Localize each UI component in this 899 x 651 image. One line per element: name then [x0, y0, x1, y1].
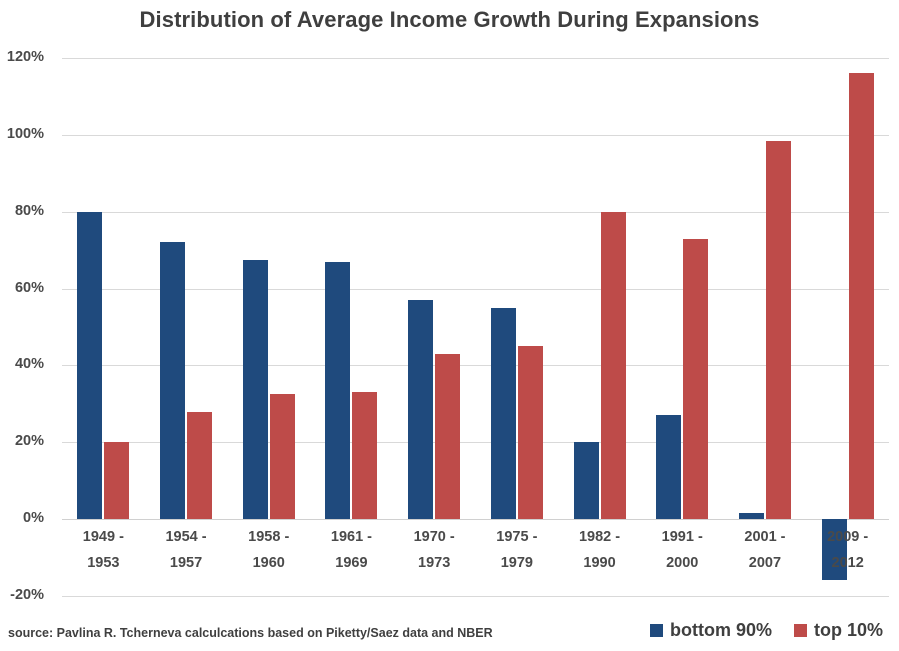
legend-label: bottom 90% [670, 620, 772, 641]
bar-bottom90 [408, 300, 433, 519]
x-axis-tick-label: 1970 -1973 [393, 524, 476, 576]
bar-group [310, 58, 393, 596]
x-axis-tick-label: 2009 -2012 [806, 524, 889, 576]
x-tick-line-1: 1954 - [165, 529, 206, 545]
x-axis-tick-label: 1991 -2000 [641, 524, 724, 576]
bar-group [724, 58, 807, 596]
bar-top10 [435, 354, 460, 519]
chart-title: Distribution of Average Income Growth Du… [0, 6, 899, 34]
bar-top10 [518, 346, 543, 519]
x-axis: 1949 -19531954 -19571958 -19601961 -1969… [62, 524, 889, 594]
y-axis-tick-label: 80% [0, 203, 44, 219]
legend-entry[interactable]: top 10% [794, 620, 883, 641]
legend-entry[interactable]: bottom 90% [650, 620, 772, 641]
bar-top10 [683, 239, 708, 520]
y-axis-tick-label: 20% [0, 433, 44, 449]
x-tick-line-1: 1982 - [579, 529, 620, 545]
y-axis-tick-label: 60% [0, 280, 44, 296]
bar-group [393, 58, 476, 596]
x-axis-tick-label: 2001 -2007 [724, 524, 807, 576]
bar-group [227, 58, 310, 596]
chart-legend: bottom 90%top 10% [650, 620, 883, 641]
x-tick-line-2: 1973 [393, 550, 476, 576]
x-tick-line-2: 2007 [724, 550, 807, 576]
bar-bottom90 [739, 513, 764, 519]
x-axis-tick-label: 1961 -1969 [310, 524, 393, 576]
bar-group [145, 58, 228, 596]
bar-bottom90 [243, 260, 268, 519]
bar-bottom90 [574, 442, 599, 519]
legend-swatch-icon [794, 624, 807, 637]
bar-group [476, 58, 559, 596]
y-axis-tick-label: 120% [0, 49, 44, 65]
bar-bottom90 [491, 308, 516, 519]
legend-swatch-icon [650, 624, 663, 637]
bar-top10 [104, 442, 129, 519]
bar-top10 [187, 412, 212, 520]
bar-group [62, 58, 145, 596]
bar-top10 [601, 212, 626, 519]
bar-top10 [849, 73, 874, 519]
x-tick-line-1: 2009 - [827, 529, 868, 545]
x-tick-line-2: 1957 [145, 550, 228, 576]
x-tick-line-1: 2001 - [744, 529, 785, 545]
chart-container: Distribution of Average Income Growth Du… [0, 0, 899, 651]
x-axis-tick-label: 1958 -1960 [227, 524, 310, 576]
x-tick-line-2: 1969 [310, 550, 393, 576]
bar-bottom90 [656, 415, 681, 519]
plot-area: 120%100%80%60%40%20%0%-20% [62, 58, 889, 596]
x-tick-line-2: 1953 [62, 550, 145, 576]
x-tick-line-1: 1958 - [248, 529, 289, 545]
x-tick-line-2: 1990 [558, 550, 641, 576]
x-tick-line-1: 1975 - [496, 529, 537, 545]
bar-top10 [270, 394, 295, 519]
x-tick-line-2: 2012 [806, 550, 889, 576]
x-tick-line-1: 1949 - [83, 529, 124, 545]
source-note: source: Pavlina R. Tcherneva calculcatio… [8, 626, 493, 640]
x-axis-tick-label: 1982 -1990 [558, 524, 641, 576]
x-tick-line-2: 1960 [227, 550, 310, 576]
bar-group [641, 58, 724, 596]
y-axis-tick-label: 100% [0, 126, 44, 142]
x-tick-line-2: 2000 [641, 550, 724, 576]
bars-layer [62, 58, 889, 596]
x-tick-line-1: 1991 - [662, 529, 703, 545]
y-axis-tick-label: 40% [0, 356, 44, 372]
x-axis-tick-label: 1954 -1957 [145, 524, 228, 576]
bar-bottom90 [160, 242, 185, 519]
x-axis-tick-label: 1949 -1953 [62, 524, 145, 576]
x-tick-line-1: 1961 - [331, 529, 372, 545]
y-axis-tick-label: 0% [0, 510, 44, 526]
gridline [62, 596, 889, 597]
bar-bottom90 [77, 212, 102, 519]
x-tick-line-1: 1970 - [414, 529, 455, 545]
bar-bottom90 [325, 262, 350, 519]
legend-label: top 10% [814, 620, 883, 641]
bar-top10 [352, 392, 377, 519]
x-tick-line-2: 1979 [476, 550, 559, 576]
bar-group [806, 58, 889, 596]
x-axis-tick-label: 1975 -1979 [476, 524, 559, 576]
bar-top10 [766, 141, 791, 520]
bar-group [558, 58, 641, 596]
y-axis-tick-label: -20% [0, 587, 44, 603]
